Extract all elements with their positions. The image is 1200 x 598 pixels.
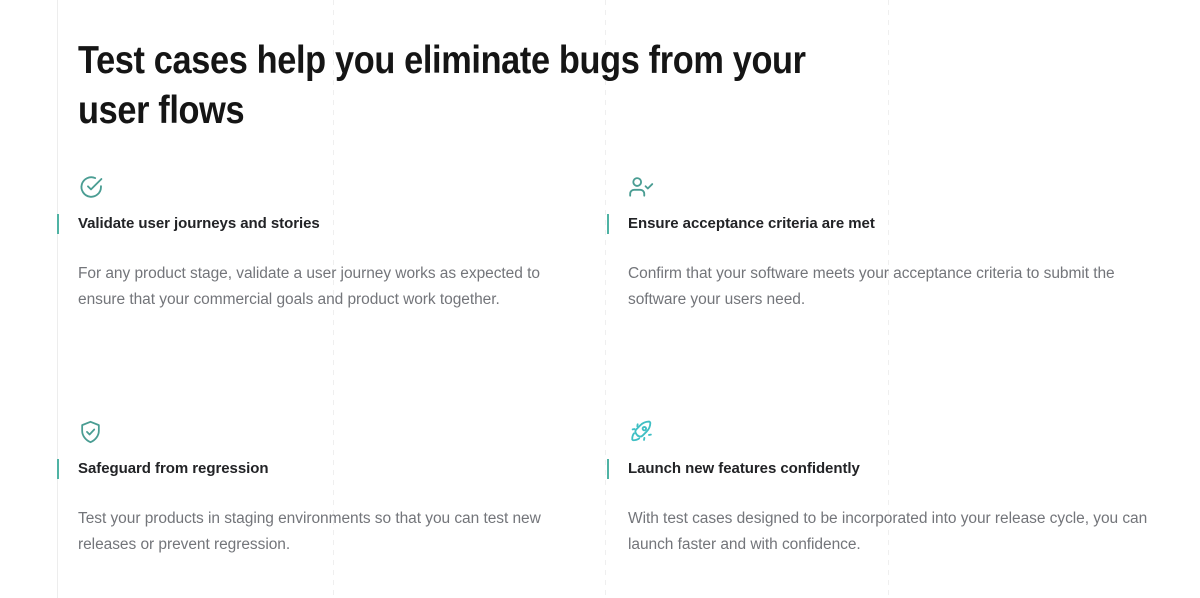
feature-title-row: Launch new features confidently [606,458,1166,480]
feature-title: Launch new features confidently [606,458,860,480]
feature-title-row: Ensure acceptance criteria are met [606,213,1166,235]
feature-card-validate-user-journeys: Validate user journeys and stories For a… [56,165,616,313]
feature-row-2: Safeguard from regression Test your prod… [0,410,1200,560]
feature-title-row: Validate user journeys and stories [56,213,616,235]
title-accent-bar [57,214,59,234]
feature-title: Safeguard from regression [56,458,268,480]
feature-card-safeguard-regression: Safeguard from regression Test your prod… [56,410,616,558]
section-heading: Test cases help you eliminate bugs from … [78,36,808,136]
feature-grid: Validate user journeys and stories For a… [0,165,1200,515]
title-accent-bar [57,459,59,479]
feature-title: Validate user journeys and stories [56,213,320,235]
title-accent-bar [607,214,609,234]
feature-card-launch-features: Launch new features confidently With tes… [606,410,1166,558]
feature-title-row: Safeguard from regression [56,458,616,480]
user-check-icon [606,165,1166,209]
feature-title: Ensure acceptance criteria are met [606,213,875,235]
feature-row-1: Validate user journeys and stories For a… [0,165,1200,315]
feature-card-acceptance-criteria: Ensure acceptance criteria are met Confi… [606,165,1166,313]
rocket-icon [606,410,1166,454]
feature-body: With test cases designed to be incorpora… [606,506,1151,558]
feature-body: Confirm that your software meets your ac… [606,261,1151,313]
feature-section: Test cases help you eliminate bugs from … [0,0,1200,598]
feature-body: Test your products in staging environmen… [56,506,591,558]
shield-check-icon [56,410,616,454]
title-accent-bar [607,459,609,479]
feature-body: For any product stage, validate a user j… [56,261,591,313]
circle-check-icon [56,165,616,209]
